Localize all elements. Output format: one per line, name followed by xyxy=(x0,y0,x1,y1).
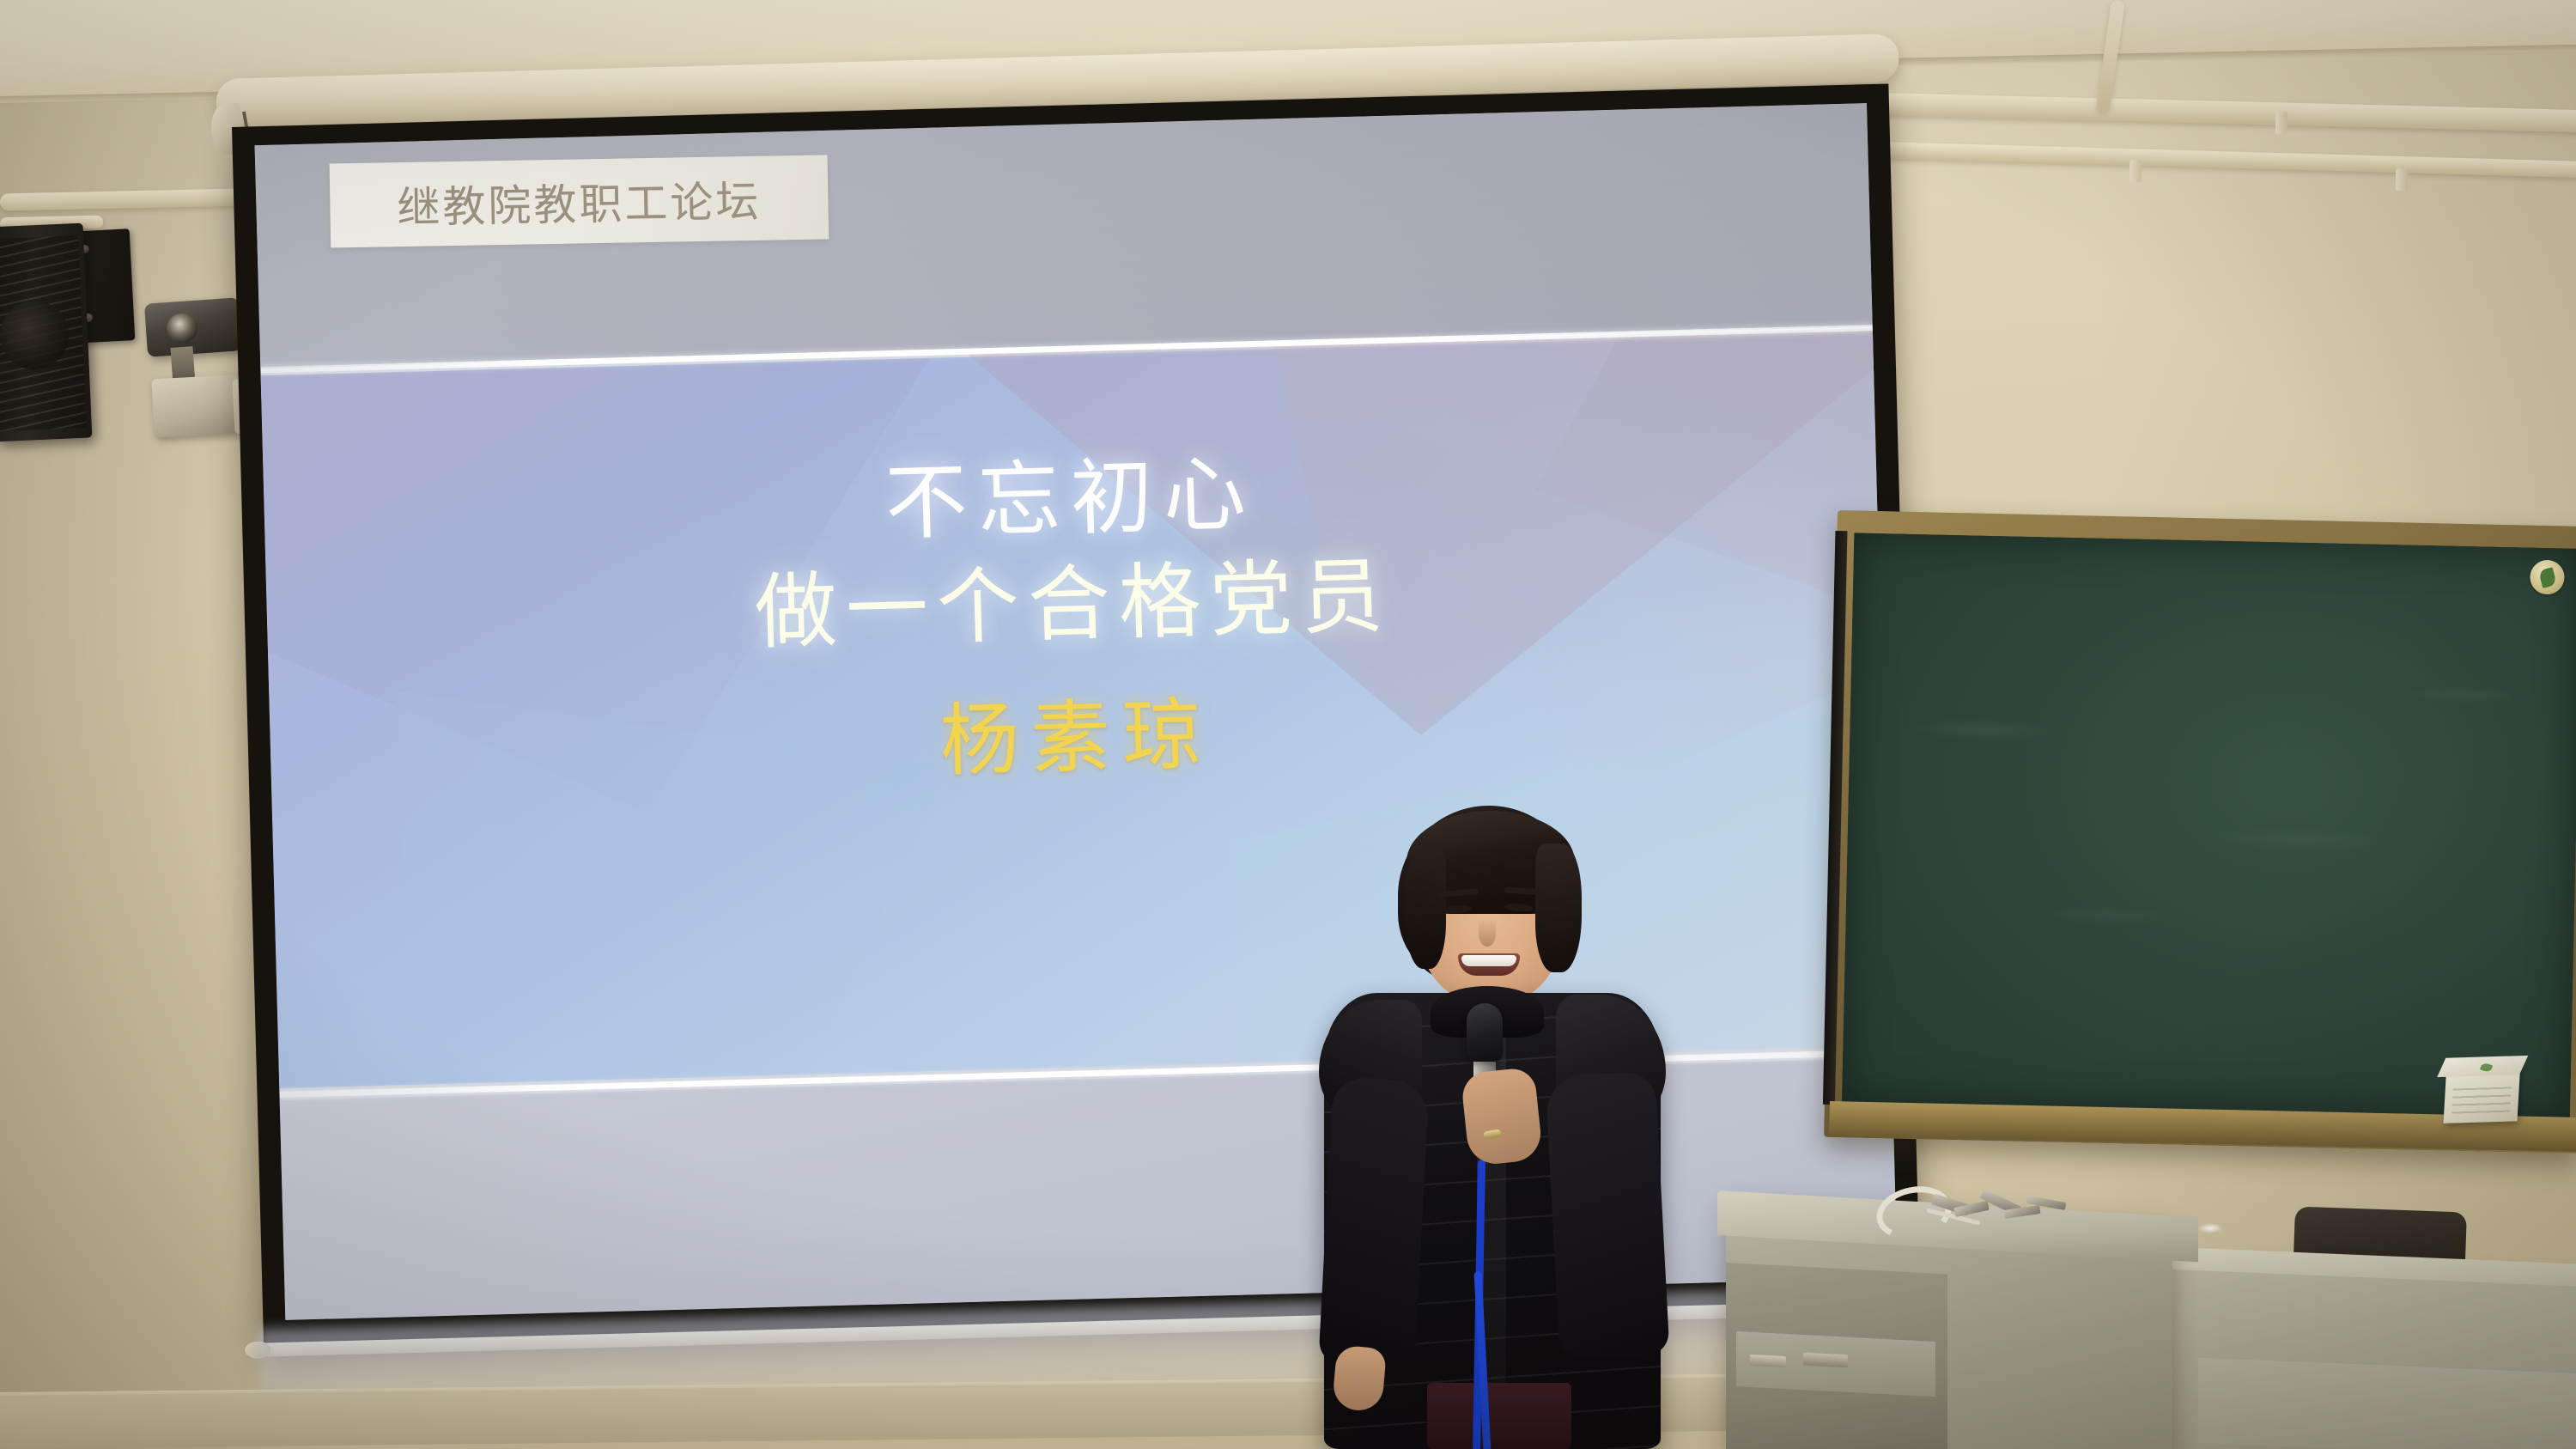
pipe-clip xyxy=(2396,168,2409,191)
nose xyxy=(1479,919,1496,947)
handheld-microphone-icon xyxy=(1467,1003,1503,1062)
keyring-icon xyxy=(1932,1196,2069,1230)
podium-lock-icon[interactable] xyxy=(1750,1355,1786,1367)
classroom-photo-scene: THREELEAVES 继教院教职工论坛 xyxy=(0,0,2576,1449)
desk-highlight xyxy=(2198,1223,2222,1233)
mouth-smiling xyxy=(1458,953,1520,976)
pipe-clip xyxy=(2275,112,2288,134)
arm-right xyxy=(1545,1071,1669,1360)
forum-title-banner: 继教院教职工论坛 xyxy=(330,155,829,247)
screen-border: 继教院教职工论坛 不忘初心 做一个合格党员 杨素琼 xyxy=(232,83,1921,1346)
hair-left xyxy=(1405,847,1446,969)
hair-right xyxy=(1535,843,1582,972)
forum-title-text: 继教院教职工论坛 xyxy=(397,167,762,235)
chalk-box-icon xyxy=(2444,1066,2521,1123)
hand-holding-microphone xyxy=(1461,1067,1544,1166)
pipe-clip xyxy=(2129,160,2142,182)
camera-lens-icon xyxy=(166,313,198,344)
presenter-person xyxy=(1322,790,1666,1449)
arm-left xyxy=(1318,1076,1429,1367)
blackboard xyxy=(1824,510,2576,1154)
side-desk-panel xyxy=(2198,1358,2576,1449)
slide-main-title: 不忘初心 做一个合格党员 xyxy=(264,429,1881,676)
wall-speaker-icon xyxy=(0,223,92,442)
blackboard-surface xyxy=(1842,533,2576,1118)
projection-screen: 继教院教职工论坛 不忘初心 做一个合格党员 杨素琼 xyxy=(232,83,1921,1363)
trousers xyxy=(1427,1383,1571,1449)
security-camera-icon xyxy=(144,297,242,357)
teeth xyxy=(1461,955,1516,966)
chalk-box-print xyxy=(2451,1087,2512,1114)
podium-drawer-handle[interactable] xyxy=(1803,1353,1848,1368)
chalk-dust-marks xyxy=(1842,533,2576,1118)
